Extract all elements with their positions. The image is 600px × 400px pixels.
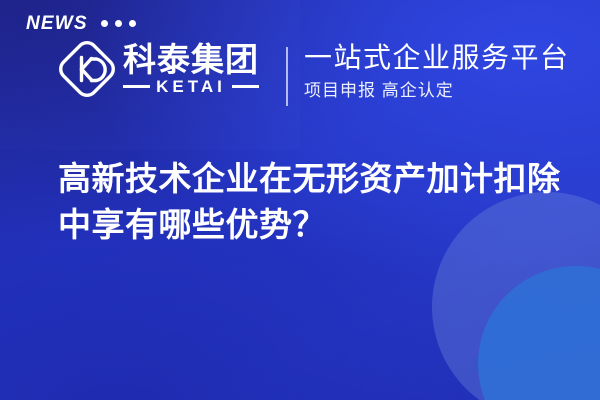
decorative-circle-front bbox=[478, 266, 600, 400]
brand-text: 科泰集团 KETAI bbox=[123, 43, 259, 95]
headline-line-2: 中享有哪些优势？ bbox=[58, 202, 568, 248]
brand-name-cn: 科泰集团 bbox=[123, 43, 259, 77]
news-banner: NEWS 科泰集团 KETAI 一站式企业服务平台 项目申报 高企认定 bbox=[0, 0, 600, 400]
headline: 高新技术企业在无形资产加计扣除 中享有哪些优势？ bbox=[58, 156, 568, 248]
news-dot-icon bbox=[101, 20, 108, 27]
news-badge: NEWS bbox=[26, 14, 136, 33]
ketai-diamond-monogram-icon bbox=[58, 40, 116, 98]
brand-name-en-row: KETAI bbox=[123, 78, 259, 95]
news-dots-icon bbox=[101, 20, 136, 27]
news-dot-icon bbox=[115, 20, 122, 27]
brand-lockup: 科泰集团 KETAI bbox=[58, 40, 259, 98]
brand-rule-right bbox=[232, 85, 259, 88]
tagline-block: 一站式企业服务平台 项目申报 高企认定 bbox=[304, 42, 570, 102]
news-label: NEWS bbox=[26, 14, 88, 33]
headline-line-1: 高新技术企业在无形资产加计扣除 bbox=[58, 156, 568, 202]
news-dot-icon bbox=[129, 20, 136, 27]
tagline-sub: 项目申报 高企认定 bbox=[304, 81, 570, 101]
tagline-main: 一站式企业服务平台 bbox=[304, 42, 570, 74]
brand-divider bbox=[286, 47, 288, 106]
brand-rule-left bbox=[123, 85, 150, 88]
brand-name-en: KETAI bbox=[156, 78, 226, 95]
